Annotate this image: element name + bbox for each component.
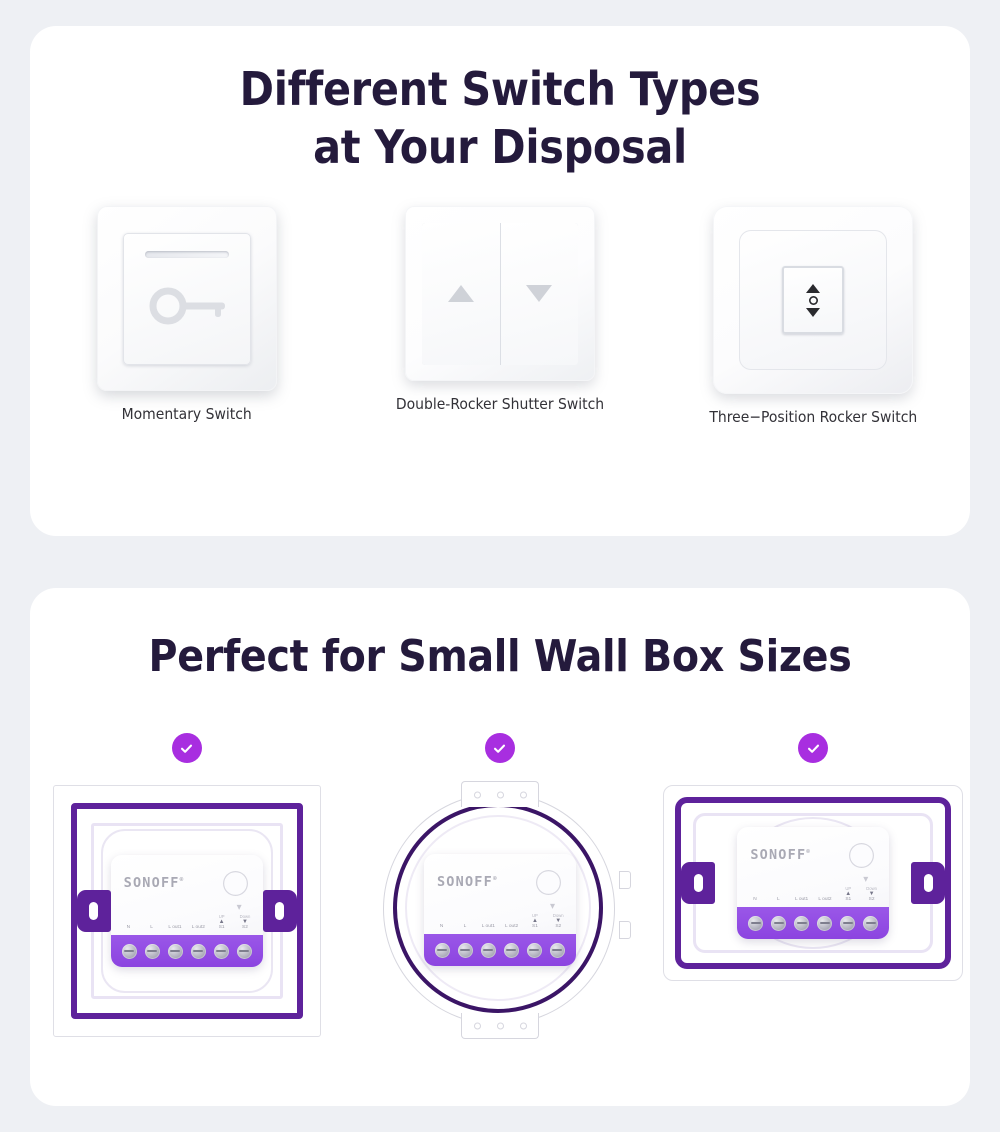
terminal-band bbox=[424, 934, 576, 966]
screw-terminal bbox=[748, 916, 763, 931]
screw-terminal bbox=[863, 916, 878, 931]
switch-type-item: Three−Position Rocker Switch bbox=[663, 206, 963, 426]
switch-types-card: Different Switch Types at Your Disposal bbox=[30, 26, 970, 536]
terminal-labels: N L L out1 L out2 UP▲S1 Down▼S2 bbox=[737, 887, 889, 903]
switch-type-caption: Double-Rocker Shutter Switch bbox=[396, 395, 604, 413]
sonoff-logo: SONOFF® bbox=[437, 874, 498, 890]
screw-terminal bbox=[214, 944, 229, 959]
terminal-label: L bbox=[141, 925, 163, 931]
registered-mark-icon: ® bbox=[806, 849, 811, 856]
mounting-tab-left bbox=[77, 890, 111, 932]
screw-terminal bbox=[435, 943, 450, 958]
pairing-button[interactable] bbox=[223, 871, 248, 896]
wall-box-item: SONOFF® ▾ N L L out1 L out2 UP▲S1 Down▼S… bbox=[663, 733, 963, 981]
screw-terminal bbox=[191, 944, 206, 959]
check-circle-icon bbox=[172, 733, 202, 763]
screw-terminal bbox=[794, 916, 809, 931]
terminal-label: Down▼S2 bbox=[234, 915, 256, 931]
terminal-label: N bbox=[744, 897, 766, 903]
round-wall-box: SONOFF® ▾ N L L out1 L out2 UP▲S1 Down▼S… bbox=[375, 785, 625, 1035]
side-nub-upper bbox=[619, 871, 631, 889]
rocker-down bbox=[500, 223, 578, 365]
page-title: Perfect for Small Wall Box Sizes bbox=[30, 630, 970, 684]
sonoff-logo-text: SONOFF bbox=[437, 874, 493, 890]
sonoff-logo-text: SONOFF bbox=[750, 847, 806, 863]
plate-bezel bbox=[739, 230, 887, 370]
key-icon bbox=[147, 285, 229, 327]
terminal-label: UP▲S1 bbox=[211, 915, 233, 931]
wall-box-item: SONOFF® ▾ N L L out1 L out2 UP▲S1 Down▼S… bbox=[37, 733, 337, 1037]
check-circle-icon bbox=[798, 733, 828, 763]
indicator-slot-icon bbox=[145, 251, 229, 258]
sonoff-logo-text: SONOFF bbox=[124, 875, 180, 891]
rocker-face bbox=[422, 223, 578, 365]
check-circle-icon bbox=[485, 733, 515, 763]
screw-terminal bbox=[527, 943, 542, 958]
check-icon bbox=[178, 740, 195, 757]
sonoff-module: SONOFF® ▾ N L L out1 L out2 UP▲S1 Down▼S… bbox=[737, 827, 889, 939]
switch-types-list: Momentary Switch bbox=[30, 206, 970, 506]
mounting-tab-right bbox=[911, 862, 945, 904]
rocker-face bbox=[123, 233, 251, 365]
rocker-face bbox=[782, 266, 844, 334]
mounting-tab-left bbox=[681, 862, 715, 904]
switch-type-caption: Momentary Switch bbox=[122, 405, 252, 423]
switch-types-title-line1: Different Switch Types bbox=[30, 60, 970, 118]
screw-terminal bbox=[168, 944, 183, 959]
side-nub-lower bbox=[619, 921, 631, 939]
wall-plate bbox=[713, 206, 913, 394]
wall-box-card: Perfect for Small Wall Box Sizes bbox=[30, 588, 970, 1106]
wifi-icon: ▾ bbox=[237, 903, 242, 913]
wifi-icon: ▾ bbox=[863, 875, 868, 885]
pairing-button[interactable] bbox=[536, 870, 561, 895]
switch-type-item: Momentary Switch bbox=[37, 206, 337, 423]
switch-type-caption: Three−Position Rocker Switch bbox=[709, 408, 917, 426]
terminal-label: UP▲S1 bbox=[524, 914, 546, 930]
terminal-label: L out2 bbox=[187, 925, 209, 931]
double-rocker-switch-image bbox=[405, 206, 595, 381]
wall-box-item: SONOFF® ▾ N L L out1 L out2 UP▲S1 Down▼S… bbox=[350, 733, 650, 1035]
terminal-label: L out1 bbox=[164, 925, 186, 931]
sonoff-logo: SONOFF® bbox=[124, 875, 185, 891]
page-root: Different Switch Types at Your Disposal bbox=[0, 0, 1000, 1132]
screw-terminal bbox=[237, 944, 252, 959]
screw-terminal bbox=[122, 944, 137, 959]
switch-types-title-line2: at Your Disposal bbox=[30, 118, 970, 176]
terminal-label: L bbox=[767, 897, 789, 903]
registered-mark-icon: ® bbox=[493, 876, 498, 883]
check-icon bbox=[805, 740, 822, 757]
page-title: Different Switch Types at Your Disposal bbox=[30, 60, 970, 176]
terminal-label: N bbox=[431, 924, 453, 930]
screw-terminal bbox=[458, 943, 473, 958]
arrow-down-icon bbox=[806, 308, 820, 317]
wall-box-list: SONOFF® ▾ N L L out1 L out2 UP▲S1 Down▼S… bbox=[30, 733, 970, 1073]
rectangular-wall-box: SONOFF® ▾ N L L out1 L out2 UP▲S1 Down▼S… bbox=[663, 785, 963, 981]
arrow-down-icon bbox=[526, 285, 552, 302]
terminal-labels: N L L out1 L out2 UP▲S1 Down▼S2 bbox=[111, 915, 263, 931]
terminal-label: L out2 bbox=[501, 924, 523, 930]
mounting-ear-bottom bbox=[461, 1013, 539, 1039]
terminal-label: L out1 bbox=[791, 897, 813, 903]
terminal-label: N bbox=[117, 925, 139, 931]
sonoff-module: SONOFF® ▾ N L L out1 L out2 UP▲S1 Down▼S… bbox=[424, 854, 576, 966]
arrow-up-icon bbox=[448, 285, 474, 302]
terminal-label: Down▼S2 bbox=[547, 914, 569, 930]
check-icon bbox=[491, 740, 508, 757]
sonoff-module: SONOFF® ▾ N L L out1 L out2 UP▲S1 Down▼S… bbox=[111, 855, 263, 967]
wall-plate bbox=[97, 206, 277, 391]
sonoff-logo: SONOFF® bbox=[750, 847, 811, 863]
terminal-label: L bbox=[454, 924, 476, 930]
mounting-ear-top bbox=[461, 781, 539, 807]
screw-terminal bbox=[817, 916, 832, 931]
screw-terminal bbox=[145, 944, 160, 959]
terminal-band bbox=[111, 935, 263, 967]
terminal-band bbox=[737, 907, 889, 939]
screw-terminal bbox=[504, 943, 519, 958]
arrow-up-icon bbox=[806, 284, 820, 293]
terminal-labels: N L L out1 L out2 UP▲S1 Down▼S2 bbox=[424, 914, 576, 930]
terminal-label: L out2 bbox=[814, 897, 836, 903]
screw-terminal bbox=[481, 943, 496, 958]
momentary-switch-image bbox=[97, 206, 277, 391]
wall-plate bbox=[405, 206, 595, 381]
square-wall-box: SONOFF® ▾ N L L out1 L out2 UP▲S1 Down▼S… bbox=[53, 785, 321, 1037]
wifi-icon: ▾ bbox=[550, 902, 555, 912]
screw-terminal bbox=[550, 943, 565, 958]
three-position-switch-image bbox=[713, 206, 913, 394]
screw-terminal bbox=[771, 916, 786, 931]
terminal-label: Down▼S2 bbox=[861, 887, 883, 903]
rocker-up bbox=[422, 223, 500, 365]
switch-type-item: Double-Rocker Shutter Switch bbox=[350, 206, 650, 413]
circle-stop-icon bbox=[809, 296, 818, 305]
screw-terminal bbox=[840, 916, 855, 931]
terminal-label: UP▲S1 bbox=[837, 887, 859, 903]
pairing-button[interactable] bbox=[849, 843, 874, 868]
terminal-label: L out1 bbox=[477, 924, 499, 930]
mounting-tab-right bbox=[263, 890, 297, 932]
registered-mark-icon: ® bbox=[180, 877, 185, 884]
